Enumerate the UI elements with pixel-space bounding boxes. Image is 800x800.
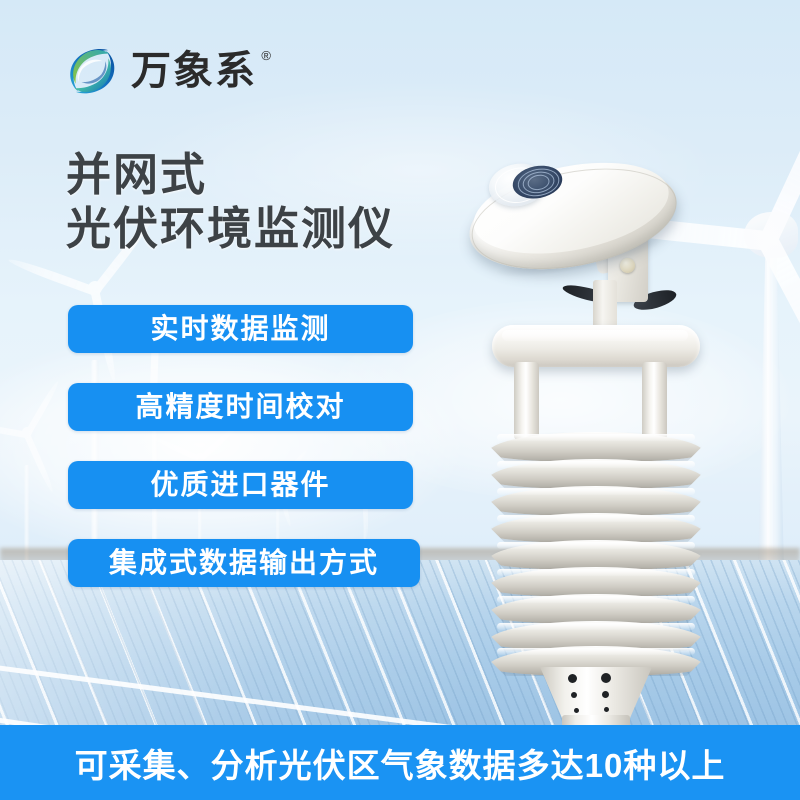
page-title-line2: 光伏环境监测仪 bbox=[66, 202, 395, 256]
vent-hole bbox=[602, 691, 609, 698]
vent-hole bbox=[568, 674, 577, 683]
louvered-radiation-shield bbox=[488, 432, 704, 678]
arm-post-left bbox=[514, 362, 539, 440]
product-poster: 万象系® 并网式 光伏环境监测仪 实时数据监测 高精度时间校对 优质进口器件 集… bbox=[0, 0, 800, 800]
page-title-line1: 并网式 bbox=[66, 148, 395, 202]
product-image bbox=[440, 140, 730, 720]
brand-name-text: 万象系 bbox=[131, 48, 257, 93]
pyranometer-dome bbox=[457, 129, 690, 306]
registered-mark: ® bbox=[261, 49, 273, 62]
arm-post-right bbox=[642, 362, 667, 440]
vent-hole bbox=[571, 692, 577, 698]
feature-badge-label: 优质进口器件 bbox=[150, 471, 330, 499]
feature-badge-label: 高精度时间校对 bbox=[135, 393, 345, 421]
feature-badge-label: 实时数据监测 bbox=[150, 315, 330, 343]
feature-badge-label: 集成式数据输出方式 bbox=[109, 549, 379, 577]
feature-badge[interactable]: 集成式数据输出方式 bbox=[68, 539, 420, 587]
feature-badge[interactable]: 优质进口器件 bbox=[68, 461, 413, 509]
brand-name: 万象系® bbox=[131, 51, 257, 91]
feature-badge[interactable]: 高精度时间校对 bbox=[68, 383, 413, 431]
brand-logo[interactable]: 万象系® bbox=[63, 42, 257, 100]
bottom-banner: 可采集、分析光伏区气象数据多达10种以上 bbox=[0, 725, 800, 800]
mounting-cone bbox=[540, 667, 652, 719]
sensor-stem bbox=[593, 280, 617, 328]
vent-hole bbox=[601, 673, 611, 683]
bottom-banner-text: 可采集、分析光伏区气象数据多达10种以上 bbox=[75, 739, 726, 787]
vent-hole bbox=[574, 708, 579, 713]
feature-badge[interactable]: 实时数据监测 bbox=[68, 305, 413, 353]
page-title: 并网式 光伏环境监测仪 bbox=[66, 148, 395, 256]
feature-badge-list: 实时数据监测 高精度时间校对 优质进口器件 集成式数据输出方式 bbox=[68, 305, 420, 617]
vent-hole bbox=[604, 707, 609, 712]
globe-swirl-logo-icon bbox=[63, 42, 121, 100]
